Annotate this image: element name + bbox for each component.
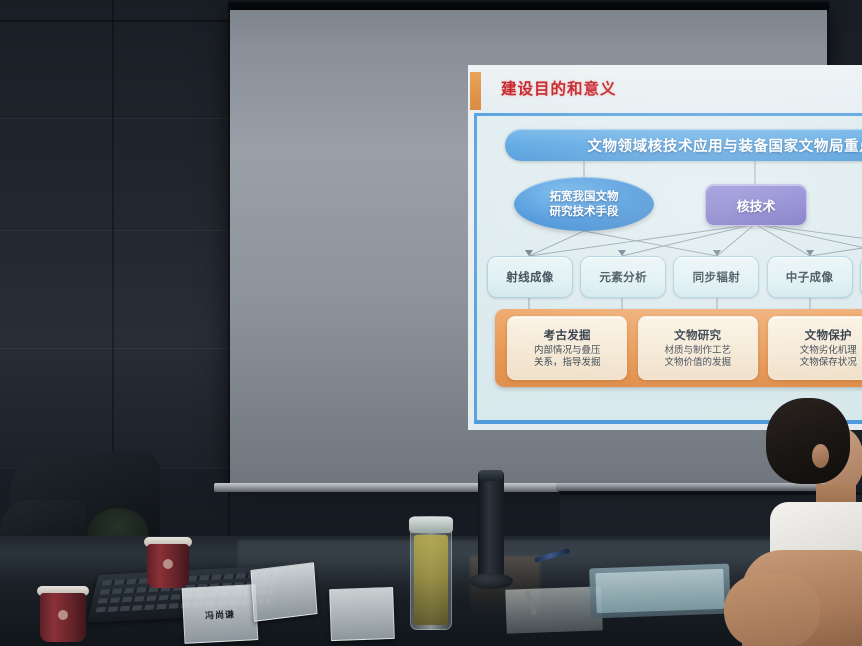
technique-chip-2-label: 同步辐射	[693, 269, 741, 285]
technique-chip-2: 同步辐射	[673, 256, 759, 298]
technique-chip-0: 射线成像	[487, 256, 573, 298]
seated-attendee	[742, 398, 862, 646]
core-technology-node: 核技术	[705, 184, 807, 226]
wall-panel	[0, 118, 230, 231]
diagram-banner-node: 文物领域核技术应用与装备国家文物局重点科研基地	[505, 129, 862, 161]
application-card-0: 考古发掘 内部情况与叠压 关系，指导发掘	[507, 316, 627, 380]
name-placard: 冯尚谦	[182, 584, 259, 644]
presentation-slide: 建设目的和意义	[468, 65, 862, 430]
slide-title: 建设目的和意义	[501, 77, 617, 99]
laptop-screen[interactable]	[589, 564, 731, 619]
diagram-banner-label: 文物领域核技术应用与装备国家文物局重点科研基地	[587, 135, 862, 156]
technique-chip-1-label: 元素分析	[599, 269, 647, 285]
slide-title-bar: 建设目的和意义	[468, 65, 862, 113]
application-card-0-line1: 内部情况与叠压	[534, 345, 601, 357]
application-band: 考古发掘 内部情况与叠压 关系，指导发掘 文物研究 材质与制作工艺 文物价值的发…	[495, 309, 862, 387]
technique-chip-3: 中子成像	[767, 256, 853, 298]
laptop-display	[595, 569, 724, 613]
tea-tumbler	[410, 516, 452, 630]
attendee-hair	[766, 398, 850, 484]
core-technology-label: 核技术	[736, 196, 775, 215]
conference-microphone[interactable]	[478, 470, 504, 580]
application-card-2-line2: 文物保存状况	[800, 357, 857, 369]
technique-row: 射线成像 元素分析 同步辐射 中子成像 辐照灭菌 ···	[487, 256, 862, 296]
application-card-0-line2: 关系，指导发掘	[534, 357, 601, 369]
application-card-2-line1: 文物劣化机理	[800, 345, 857, 357]
technique-chip-1: 元素分析	[580, 256, 666, 298]
wall-seam	[112, 0, 114, 470]
technique-chip-3-label: 中子成像	[786, 269, 834, 285]
wall-panel	[0, 230, 230, 349]
goal-node-left-label: 拓宽我国文物研究技术手段	[550, 189, 619, 219]
attendee-forearm	[724, 574, 820, 646]
name-placard-label: 冯尚谦	[205, 607, 236, 622]
slide-content-panel: 文物领域核技术应用与装备国家文物局重点科研基地 拓宽我国文物研究技术手段 核技术…	[474, 113, 862, 424]
application-card-2: 文物保护 文物劣化机理 文物保存状况	[768, 316, 862, 380]
projector-screen-weight-bar	[214, 483, 559, 492]
paper-cup	[40, 586, 86, 644]
technique-chip-0-label: 射线成像	[506, 269, 554, 285]
application-card-1: 文物研究 材质与制作工艺 文物价值的发掘	[638, 316, 758, 380]
wall-seam	[0, 20, 230, 22]
name-placard	[250, 562, 317, 622]
goal-node-left: 拓宽我国文物研究技术手段	[514, 177, 654, 231]
application-card-1-line2: 文物价值的发掘	[664, 357, 731, 369]
wall-panel	[0, 348, 230, 469]
document-page	[505, 586, 602, 633]
attendee-ear	[812, 444, 829, 468]
paper-cup	[147, 537, 189, 589]
microphone-cap	[479, 470, 503, 481]
title-accent-bar	[470, 72, 481, 110]
conference-room-photo: 建设目的和意义	[0, 0, 862, 646]
tumbler-lid	[409, 517, 453, 533]
name-placard	[329, 587, 395, 641]
application-card-1-title: 文物研究	[674, 327, 721, 343]
tumbler-tea-leaves	[414, 535, 448, 625]
application-card-2-title: 文物保护	[805, 327, 852, 343]
projector-screen: 建设目的和意义	[230, 10, 827, 484]
cup-logo	[163, 559, 173, 569]
wall-panel	[0, 0, 230, 119]
application-card-1-line1: 材质与制作工艺	[664, 345, 731, 357]
application-card-0-title: 考古发掘	[544, 327, 591, 343]
microphone-base	[469, 573, 513, 589]
